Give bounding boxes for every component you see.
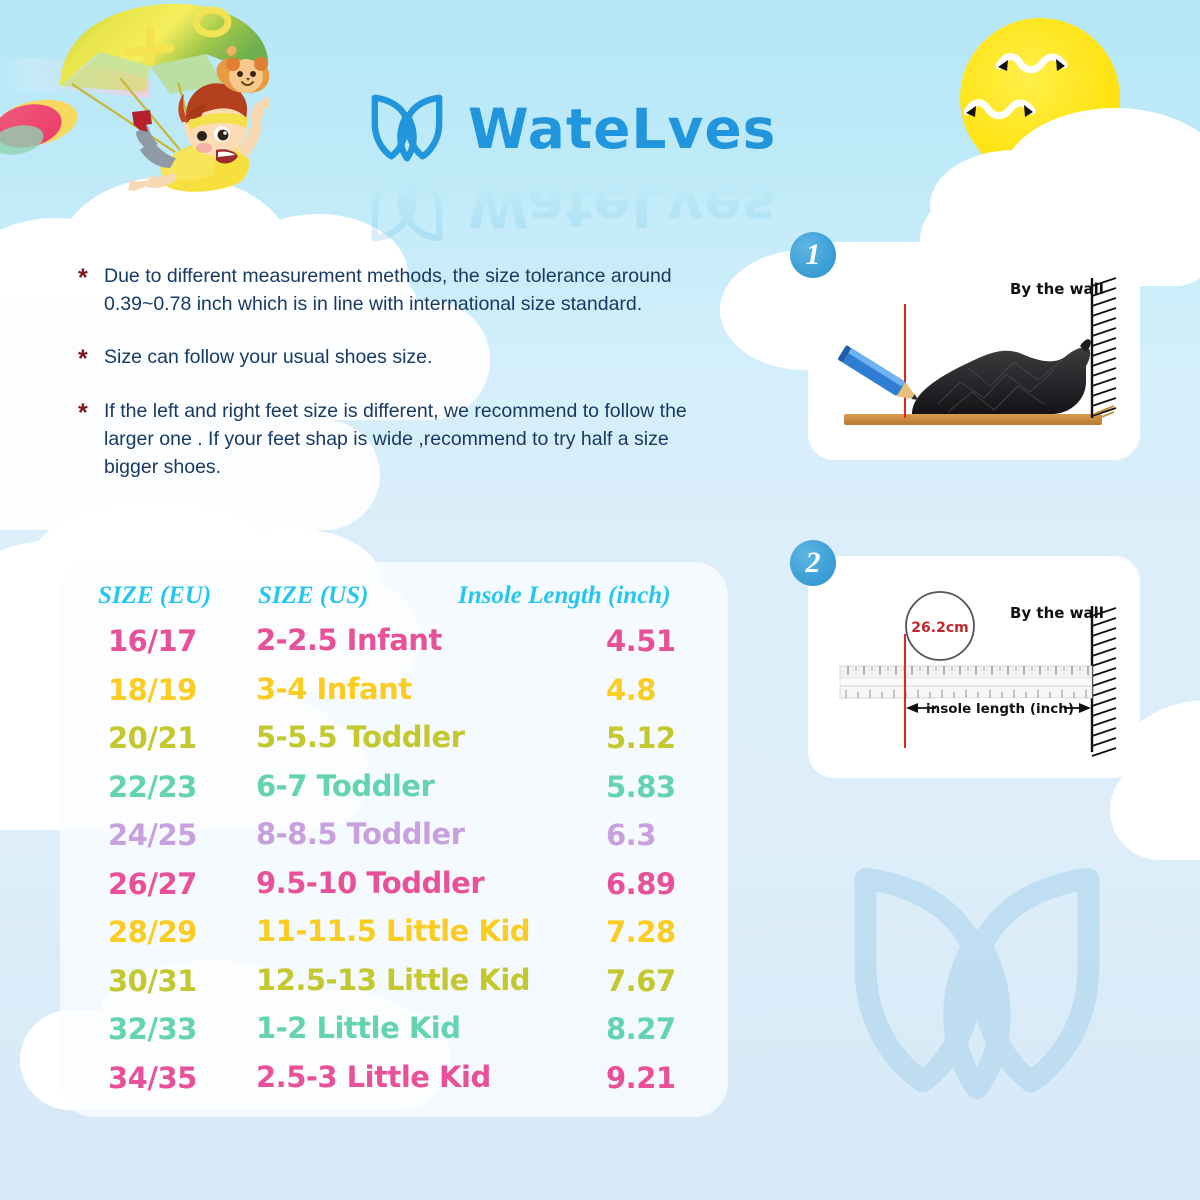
note-item: * Size can follow your usual shoes size.	[78, 343, 718, 372]
size-cell-eu: 32/33	[108, 1012, 197, 1046]
size-cell-us: 2.5-3 Little Kid	[256, 1060, 491, 1094]
note-item: * Due to different measurement methods, …	[78, 262, 718, 318]
size-cell-eu: 20/21	[108, 721, 197, 755]
size-cell-eu: 18/19	[108, 673, 197, 707]
column-header-insole: Insole Length (inch)	[458, 582, 671, 610]
step-1-badge: 1	[790, 232, 836, 278]
size-cell-insole: 7.28	[606, 915, 676, 949]
size-cell-us: 8-8.5 Toddler	[256, 817, 464, 851]
size-cell-eu: 24/25	[108, 818, 197, 852]
size-cell-us: 11-11.5 Little Kid	[256, 914, 530, 948]
size-cell-us: 1-2 Little Kid	[256, 1011, 461, 1045]
svg-text:26.2cm: 26.2cm	[911, 620, 968, 636]
note-item: * If the left and right feet size is dif…	[78, 397, 718, 481]
size-cell-eu: 26/27	[108, 867, 197, 901]
table-row: 22/236-7 Toddler5.83	[60, 770, 728, 819]
size-cell-insole: 5.12	[606, 721, 676, 755]
note-text: Size can follow your usual shoes size.	[104, 343, 432, 372]
size-cell-insole: 4.51	[606, 624, 676, 658]
size-cell-us: 2-2.5 Infant	[256, 623, 442, 657]
size-cell-insole: 6.3	[606, 818, 656, 852]
column-header-eu: SIZE (EU)	[98, 582, 211, 610]
size-cell-insole: 4.8	[606, 673, 656, 707]
asterisk-icon: *	[78, 262, 104, 318]
table-row: 16/172-2.5 Infant4.51	[60, 624, 728, 673]
parachuting-boy-with-lion-icon	[0, 0, 330, 225]
note-text: Due to different measurement methods, th…	[104, 262, 718, 318]
step-1-card: By the wall	[808, 242, 1140, 460]
size-table-rows: 16/172-2.5 Infant4.5118/193-4 Infant4.82…	[60, 624, 728, 1109]
infographic-canvas: WateLves WateLves * Due to different mea…	[0, 0, 1200, 1200]
leaf-pair-logo-icon-reflection	[368, 168, 446, 246]
size-cell-insole: 7.67	[606, 964, 676, 998]
size-cell-us: 6-7 Toddler	[256, 769, 434, 803]
table-row: 32/331-2 Little Kid8.27	[60, 1012, 728, 1061]
table-row: 30/3112.5-13 Little Kid7.67	[60, 964, 728, 1013]
svg-text:insole length (inch): insole length (inch)	[926, 701, 1074, 717]
size-cell-eu: 30/31	[108, 964, 197, 998]
size-cell-us: 3-4 Infant	[256, 672, 412, 706]
size-cell-us: 12.5-13 Little Kid	[256, 963, 530, 997]
size-cell-us: 5-5.5 Toddler	[256, 720, 464, 754]
size-cell-insole: 8.27	[606, 1012, 676, 1046]
size-cell-insole: 9.21	[606, 1061, 676, 1095]
step-2-card: 26.2cm insole length (inch) By the wall	[808, 556, 1140, 778]
brand-name: WateLves	[468, 102, 776, 157]
size-cell-insole: 6.89	[606, 867, 676, 901]
size-cell-eu: 28/29	[108, 915, 197, 949]
brand-logo-reflection: WateLves	[368, 172, 798, 242]
bird-icon	[996, 50, 1068, 84]
brand-logo: WateLves	[368, 88, 798, 170]
asterisk-icon: *	[78, 397, 104, 481]
asterisk-icon: *	[78, 343, 104, 372]
note-text: If the left and right feet size is diffe…	[104, 397, 718, 481]
table-row: 26/279.5-10 Toddler6.89	[60, 867, 728, 916]
watermark-logo-icon	[842, 852, 1112, 1122]
leaf-pair-logo-icon	[368, 90, 446, 168]
size-cell-insole: 5.83	[606, 770, 676, 804]
bird-icon	[964, 96, 1036, 130]
size-table: SIZE (EU) SIZE (US) Insole Length (inch)…	[60, 562, 728, 1117]
step-2-badge: 2	[790, 540, 836, 586]
size-cell-eu: 22/23	[108, 770, 197, 804]
size-cell-eu: 34/35	[108, 1061, 197, 1095]
table-row: 18/193-4 Infant4.8	[60, 673, 728, 722]
table-row: 34/352.5-3 Little Kid9.21	[60, 1061, 728, 1110]
size-cell-us: 9.5-10 Toddler	[256, 866, 484, 900]
notes-list: * Due to different measurement methods, …	[78, 262, 718, 506]
table-row: 24/258-8.5 Toddler6.3	[60, 818, 728, 867]
size-cell-eu: 16/17	[108, 624, 197, 658]
table-row: 20/215-5.5 Toddler5.12	[60, 721, 728, 770]
svg-text:By the wall: By the wall	[1010, 604, 1104, 622]
brand-name-reflection: WateLves	[468, 180, 776, 235]
table-row: 28/2911-11.5 Little Kid7.28	[60, 915, 728, 964]
svg-text:By the wall: By the wall	[1010, 280, 1104, 298]
column-header-us: SIZE (US)	[258, 582, 368, 610]
